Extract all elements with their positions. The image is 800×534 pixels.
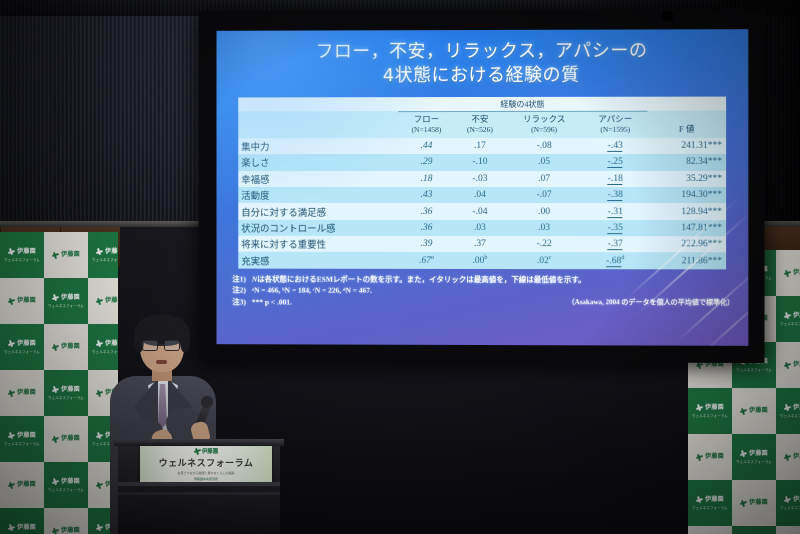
itoen-leaf-icon	[8, 298, 15, 305]
backdrop-logo-tile: 伊藤園ウェルネスフォーラム	[776, 388, 800, 434]
itoen-subbrand-label: ウェルネスフォーラム	[780, 413, 800, 418]
itoen-brand-label: 伊藤園	[705, 497, 724, 503]
itoen-subbrand-label: ウェルネスフォーラム	[736, 367, 772, 372]
backdrop-logo-tile: 伊藤園ウェルネスフォーラム	[688, 480, 732, 526]
itoen-leaf-icon	[52, 478, 59, 485]
itoen-subbrand-label: ウェルネスフォーラム	[736, 459, 772, 464]
podium-top-surface	[114, 439, 284, 446]
itoen-leaf-icon	[696, 496, 703, 503]
column-header-apathy-label: アパシー	[598, 113, 632, 123]
backdrop-logo-tile: 伊藤園ウェルネスフォーラム	[0, 508, 44, 534]
cell-apathy: -.25	[583, 154, 647, 170]
itoen-brand-label: 伊藤園	[61, 295, 80, 301]
podium-banner-footer: 伊藤園中央研究所	[194, 477, 218, 481]
backdrop-logo-tile: 伊藤園	[732, 388, 776, 434]
column-header-anxiety: 不安 (N=526)	[455, 111, 505, 138]
itoen-subbrand-label: ウェルネスフォーラム	[48, 303, 84, 308]
itoen-brand-label: 伊藤園	[17, 341, 36, 347]
itoen-subbrand-label: ウェルネスフォーラム	[48, 487, 84, 492]
podium: 伊藤園 ウェルネスフォーラム お茶でつながる健康と豊かなくらしの提案 伊藤園中央…	[118, 444, 280, 534]
itoen-brand-label: 伊藤園	[17, 482, 36, 488]
footnote-1-rest: は各状態におけるESMレポートの数を示す。また，イタリックは最高値を，下線は最低…	[257, 274, 585, 284]
column-header-fvalue: F 値	[647, 111, 726, 138]
itoen-logo: 伊藤園	[52, 252, 80, 259]
itoen-leaf-icon	[784, 362, 791, 369]
cell-fvalue: 35.29***	[647, 171, 726, 187]
cell-relax: .02c	[505, 253, 583, 270]
itoen-brand-label: 伊藤園	[61, 436, 80, 442]
itoen-brand-label: 伊藤園	[17, 525, 36, 531]
itoen-leaf-icon	[8, 432, 15, 439]
cell-relax: -.07	[505, 187, 583, 203]
itoen-logo: 伊藤園	[784, 270, 800, 277]
cell-anxiety: .03	[455, 220, 505, 236]
cell-apathy: -.37	[583, 236, 647, 252]
itoen-logo: 伊藤園	[96, 248, 118, 255]
cell-fvalue: 82.34***	[647, 154, 726, 170]
backdrop-logo-tile: 伊藤園ウェルネスフォーラム	[688, 388, 732, 434]
cell-relax: .03	[505, 220, 583, 236]
itoen-subbrand-label: ウェルネスフォーラム	[4, 257, 40, 262]
itoen-leaf-icon	[96, 432, 103, 439]
cell-fvalue: 194.30***	[647, 187, 726, 203]
itoen-logo: 伊藤園	[696, 454, 724, 461]
footnote-3: 注3) *** p < .001. （Asakawa, 2004 のデータを個人…	[232, 297, 734, 310]
itoen-brand-label: 伊藤園	[705, 362, 724, 368]
cell-relax: .05	[505, 154, 583, 170]
backdrop-logo-tile: 伊藤園	[0, 370, 44, 416]
itoen-logo: 伊藤園	[784, 496, 800, 503]
backdrop-logo-tile: 伊藤園	[688, 526, 732, 534]
itoen-brand-label: 伊藤園	[17, 390, 36, 396]
podium-banner: 伊藤園 ウェルネスフォーラム お茶でつながる健康と豊かなくらしの提案 伊藤園中央…	[140, 446, 272, 482]
footnote-1: 注1) Nは各状態におけるESMレポートの数を示す。また，イタリックは最高値を，…	[232, 273, 734, 286]
itoen-leaf-icon	[740, 500, 747, 507]
itoen-leaf-icon	[96, 248, 103, 255]
itoen-logo: 伊藤園	[96, 298, 118, 305]
backdrop-logo-tile: 伊藤園	[776, 342, 800, 388]
itoen-brand-label: 伊藤園	[705, 405, 724, 411]
backdrop-logo-tile: 伊藤園	[44, 508, 88, 534]
microphone-head	[201, 396, 213, 408]
backdrop-logo-tile: 伊藤園ウェルネスフォーラム	[0, 232, 44, 278]
footnote-3-left: 注3) *** p < .001.	[232, 297, 292, 309]
itoen-logo: 伊藤園	[784, 312, 800, 319]
itoen-leaf-icon	[696, 454, 703, 461]
itoen-subbrand-label: ウェルネスフォーラム	[4, 349, 40, 354]
projector-hotspot	[216, 29, 455, 210]
sponsor-backdrop-left: 伊藤園ウェルネスフォーラム伊藤園伊藤園ウェルネスフォーラム伊藤園伊藤園ウェルネス…	[0, 232, 118, 534]
backdrop-logo-tile: 伊藤園ウェルネスフォーラム	[88, 232, 118, 278]
backdrop-logo-tile: 伊藤園	[776, 526, 800, 534]
cell-relax: -.08	[505, 138, 583, 154]
itoen-subbrand-label: ウェルネスフォーラム	[92, 257, 118, 262]
projection-screen: フロー，不安，リラックス，アパシーの 4状態における経験の質 経験の4状態	[199, 9, 765, 363]
itoen-logo: 伊藤園	[52, 436, 80, 443]
itoen-leaf-icon	[52, 252, 59, 259]
itoen-leaf-icon	[52, 294, 59, 301]
itoen-brand-label: 伊藤園	[793, 270, 800, 276]
itoen-leaf-icon	[8, 482, 15, 489]
table-row-label: 将来に対する重要性	[238, 236, 398, 253]
presenter-eyeglasses-left-lens	[142, 340, 158, 351]
backdrop-logo-tile: 伊藤園	[776, 250, 800, 296]
backdrop-logo-tile: 伊藤園ウェルネスフォーラム	[0, 324, 44, 370]
cell-apathy: -.43	[583, 138, 647, 154]
itoen-leaf-icon	[784, 496, 791, 503]
backdrop-logo-tile: 伊藤園ウェルネスフォーラム	[44, 278, 88, 324]
itoen-brand-label: 伊藤園	[793, 497, 800, 503]
podium-rail-lower	[118, 492, 280, 495]
column-header-relax-n: (N=596)	[531, 125, 557, 134]
itoen-brand-label: 伊藤園	[793, 405, 800, 411]
itoen-brand-label: 伊藤園	[17, 433, 36, 439]
itoen-leaf-icon	[52, 344, 59, 351]
itoen-logo: 伊藤園	[784, 362, 800, 369]
itoen-logo: 伊藤園	[8, 340, 36, 347]
itoen-brand-label: 伊藤園	[749, 408, 768, 414]
slide-footnotes: 注1) Nは各状態におけるESMレポートの数を示す。また，イタリックは最高値を，…	[232, 273, 734, 309]
podium-rail-upper	[118, 482, 280, 486]
conference-room-scene: 伊藤園ウェルネスフォーラム伊藤園伊藤園ウェルネスフォーラム伊藤園伊藤園ウェルネス…	[0, 0, 800, 534]
table-row: 将来に対する重要性.39.37-.22-.37222.96***	[238, 236, 726, 253]
backdrop-logo-tile: 伊藤園	[688, 434, 732, 480]
column-header-relax: リラックス (N=596)	[505, 111, 583, 138]
cell-apathy: -.38	[583, 187, 647, 203]
footnote-3-text: *** p < .001.	[252, 297, 292, 309]
itoen-brand-label: 伊藤園	[105, 249, 118, 255]
table-row: 充実感.67a.00b.02c-.68d211.86***	[238, 252, 726, 269]
table-row-label: 状況のコントロール感	[238, 220, 398, 236]
itoen-logo: 伊藤園	[52, 344, 80, 351]
cell-anxiety: .37	[455, 236, 505, 252]
cell-anxiety: -.03	[455, 171, 505, 187]
itoen-brand-label: 伊藤園	[61, 344, 80, 350]
itoen-logo: 伊藤園	[8, 482, 36, 489]
backdrop-logo-tile: 伊藤園	[732, 480, 776, 526]
itoen-subbrand-label: ウェルネスフォーラム	[780, 321, 800, 326]
column-header-apathy: アパシー (N=1595)	[583, 111, 647, 138]
cell-flow: .67a	[398, 252, 455, 268]
footnote-1-text: Nは各状態におけるESMレポートの数を示す。また，イタリックは最高値を，下線は最…	[252, 273, 734, 286]
itoen-leaf-icon	[740, 408, 747, 415]
itoen-logo: 伊藤園	[740, 408, 768, 415]
cell-fvalue: 128.94***	[647, 203, 726, 219]
podium-banner-brand: 伊藤園	[202, 447, 219, 455]
table-row-label: 充実感	[238, 252, 398, 269]
itoen-leaf-icon	[8, 524, 15, 531]
itoen-leaf-icon	[96, 298, 103, 305]
cell-apathy: -.31	[583, 203, 647, 219]
itoen-leaf-icon	[696, 404, 703, 411]
itoen-logo: 伊藤園	[696, 404, 724, 411]
cell-anxiety: -.10	[455, 154, 505, 170]
column-header-anxiety-n: (N=526)	[467, 125, 493, 134]
podium-banner-logo: 伊藤園	[194, 447, 219, 455]
cell-anxiety: .00b	[455, 252, 505, 268]
itoen-logo: 伊藤園	[52, 528, 80, 534]
presenter-eyeglasses-right-lens	[164, 340, 180, 351]
itoen-leaf-icon	[784, 270, 791, 277]
itoen-subbrand-label: ウェルネスフォーラム	[4, 441, 40, 446]
footnote-2: 注2) ᵃN = 466, ᵇN = 184, ᶜN = 226, ᵈN = 4…	[232, 285, 734, 298]
column-header-anxiety-label: 不安	[471, 114, 488, 124]
itoen-logo: 伊藤園	[740, 500, 768, 507]
backdrop-logo-tile: 伊藤園ウェルネスフォーラム	[776, 296, 800, 342]
backdrop-logo-tile: 伊藤園ウェルネスフォーラム	[776, 480, 800, 526]
backdrop-logo-tile: 伊藤園ウェルネスフォーラム	[732, 434, 776, 480]
cell-flow: .39	[398, 236, 455, 252]
cell-anxiety: -.04	[455, 203, 505, 219]
itoen-brand-label: 伊藤園	[705, 454, 724, 460]
cell-apathy: -.68d	[583, 253, 647, 270]
itoen-leaf-icon	[784, 404, 791, 411]
itoen-subbrand-label: ウェルネスフォーラム	[692, 413, 728, 418]
itoen-logo: 伊藤園	[8, 248, 36, 255]
backdrop-logo-tile: 伊藤園	[0, 278, 44, 324]
backdrop-logo-tile: 伊藤園ウェルネスフォーラム	[44, 462, 88, 508]
column-header-relax-label: リラックス	[523, 113, 565, 123]
cell-fvalue: 222.96***	[647, 236, 726, 253]
itoen-brand-label: 伊藤園	[61, 479, 80, 485]
cell-relax: .07	[505, 171, 583, 187]
itoen-logo: 伊藤園	[52, 294, 80, 301]
itoen-leaf-icon	[8, 390, 15, 397]
backdrop-logo-tile: 伊藤園	[44, 416, 88, 462]
itoen-leaf-icon	[52, 386, 59, 393]
cell-relax: -.22	[505, 236, 583, 252]
footnote-1-tag: 注1)	[232, 273, 246, 285]
backdrop-logo-tile: 伊藤園	[0, 462, 44, 508]
itoen-leaf-icon	[96, 340, 103, 347]
backdrop-logo-tile: 伊藤園ウェルネスフォーラム	[0, 416, 44, 462]
itoen-brand-label: 伊藤園	[793, 362, 800, 368]
itoen-logo: 伊藤園	[696, 496, 724, 503]
footnote-2-text: ᵃN = 466, ᵇN = 184, ᶜN = 226, ᵈN = 467.	[252, 285, 734, 298]
cell-apathy: -.35	[583, 220, 647, 236]
itoen-brand-label: 伊藤園	[61, 252, 80, 258]
cell-fvalue: 241.31***	[647, 138, 726, 155]
itoen-brand-label: 伊藤園	[749, 451, 768, 457]
itoen-brand-label: 伊藤園	[749, 500, 768, 506]
itoen-logo: 伊藤園	[784, 404, 800, 411]
presenter-hair-side-right	[180, 326, 190, 352]
itoen-leaf-icon	[8, 248, 15, 255]
itoen-leaf-icon	[96, 482, 103, 489]
itoen-leaf-icon	[194, 448, 200, 454]
column-header-apathy-n: (N=1595)	[600, 125, 630, 134]
itoen-logo: 伊藤園	[784, 454, 800, 461]
itoen-brand-label: 伊藤園	[17, 298, 36, 304]
itoen-brand-label: 伊藤園	[61, 387, 80, 393]
itoen-brand-label: 伊藤園	[793, 454, 800, 460]
itoen-logo: 伊藤園	[8, 390, 36, 397]
wall-shadow-left	[0, 0, 120, 232]
itoen-brand-label: 伊藤園	[793, 313, 800, 319]
itoen-logo: 伊藤園	[740, 450, 768, 457]
itoen-logo: 伊藤園	[8, 298, 36, 305]
itoen-brand-label: 伊藤園	[17, 249, 36, 255]
table-row: 状況のコントロール感.36.03.03-.35147.81***	[238, 220, 726, 237]
footnote-3-source: （Asakawa, 2004 のデータを個人の平均値で標準化）	[568, 297, 735, 308]
itoen-logo: 伊藤園	[8, 432, 36, 439]
cell-fvalue: 211.86***	[647, 253, 726, 270]
itoen-leaf-icon	[784, 312, 791, 319]
podium-banner-subtitle: お茶でつながる健康と豊かなくらしの提案	[177, 471, 234, 475]
cell-flow: .36	[398, 220, 455, 236]
cell-anxiety: .04	[455, 187, 505, 203]
itoen-leaf-icon	[52, 436, 59, 443]
itoen-subbrand-label: ウェルネスフォーラム	[48, 395, 84, 400]
column-header-fvalue-label: F 値	[679, 124, 694, 134]
itoen-logo: 伊藤園	[8, 524, 36, 531]
cell-fvalue: 147.81***	[647, 220, 726, 237]
cell-apathy: -.18	[583, 171, 647, 187]
presentation-slide: フロー，不安，リラックス，アパシーの 4状態における経験の質 経験の4状態	[216, 29, 748, 346]
itoen-leaf-icon	[52, 528, 59, 534]
presenter-mouth	[156, 360, 167, 364]
backdrop-logo-tile: 伊藤園ウェルネスフォーラム	[732, 526, 776, 534]
screen-ceiling-mount	[663, 11, 673, 21]
cell-relax: .00	[505, 203, 583, 219]
itoen-brand-label: 伊藤園	[61, 528, 80, 534]
cell-anxiety: .17	[455, 138, 505, 154]
itoen-leaf-icon	[8, 340, 15, 347]
footnote-3-tag: 注3)	[232, 297, 246, 309]
presenter-eyeglasses-bridge	[158, 344, 164, 346]
itoen-leaf-icon	[784, 454, 791, 461]
itoen-subbrand-label: ウェルネスフォーラム	[692, 505, 728, 510]
itoen-brand-label: 伊藤園	[105, 298, 118, 304]
podium-banner-title: ウェルネスフォーラム	[159, 456, 254, 469]
backdrop-logo-tile: 伊藤園ウェルネスフォーラム	[44, 370, 88, 416]
backdrop-logo-tile: 伊藤園	[776, 434, 800, 480]
itoen-leaf-icon	[96, 524, 103, 531]
itoen-leaf-icon	[740, 450, 747, 457]
backdrop-logo-tile: 伊藤園	[44, 324, 88, 370]
itoen-logo: 伊藤園	[52, 478, 80, 485]
group-header-spacer-right	[647, 96, 726, 111]
backdrop-logo-tile: 伊藤園	[44, 232, 88, 278]
itoen-subbrand-label: ウェルネスフォーラム	[780, 505, 800, 510]
itoen-logo: 伊藤園	[52, 386, 80, 393]
itoen-leaf-icon	[96, 390, 103, 397]
footnote-2-tag: 注2)	[232, 285, 246, 297]
